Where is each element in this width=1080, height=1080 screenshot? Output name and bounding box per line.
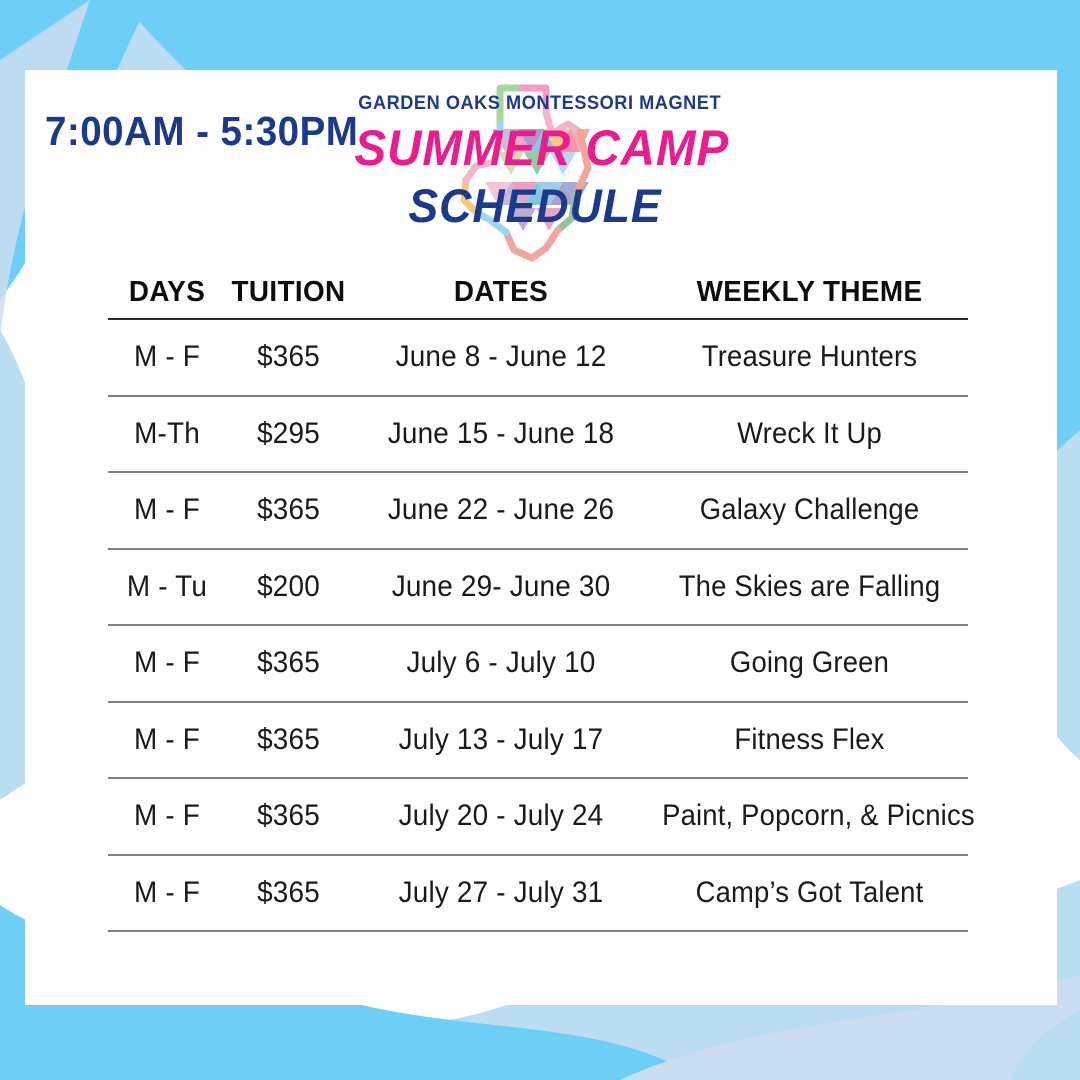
cell-theme: Treasure Hunters bbox=[662, 340, 957, 374]
cell-tuition: $365 bbox=[230, 799, 346, 833]
table-header-row: DAYS TUITION DATES WEEKLY THEME bbox=[108, 266, 968, 320]
column-header-days: DAYS bbox=[110, 276, 223, 309]
cell-tuition: $365 bbox=[230, 340, 346, 374]
cell-days: M - F bbox=[112, 876, 222, 910]
cell-days: M - F bbox=[112, 646, 222, 680]
cell-days: M-Th bbox=[112, 417, 222, 451]
schedule-card: 7:00AM - 5:30PM bbox=[25, 70, 1057, 1005]
logo-text-group: GARDEN OAKS MONTESSORI MAGNET SUMMER CAM… bbox=[345, 82, 725, 272]
poster-header: 7:00AM - 5:30PM bbox=[25, 70, 1057, 265]
cell-theme: Wreck It Up bbox=[662, 417, 957, 451]
summer-camp-title: SUMMER CAMP bbox=[355, 123, 716, 173]
column-header-theme: WEEKLY THEME bbox=[657, 276, 961, 309]
cell-dates: June 15 - June 18 bbox=[362, 417, 641, 451]
table-row: M - F $365 July 20 - July 24 Paint, Popc… bbox=[108, 779, 968, 856]
cell-theme: Fitness Flex bbox=[662, 723, 957, 757]
cell-tuition: $365 bbox=[230, 723, 346, 757]
camp-hours-text: 7:00AM - 5:30PM bbox=[45, 108, 358, 155]
column-header-tuition: TUITION bbox=[229, 276, 349, 309]
cell-dates: July 13 - July 17 bbox=[362, 723, 641, 757]
school-name-text: GARDEN OAKS MONTESSORI MAGNET bbox=[358, 92, 711, 115]
table-row: M - F $365 July 13 - July 17 Fitness Fle… bbox=[108, 703, 968, 780]
cell-days: M - F bbox=[112, 799, 222, 833]
table-row: M - F $365 June 8 - June 12 Treasure Hun… bbox=[108, 320, 968, 397]
cell-dates: June 22 - June 26 bbox=[362, 493, 641, 527]
cell-theme: Galaxy Challenge bbox=[662, 493, 957, 527]
poster-canvas: 7:00AM - 5:30PM bbox=[0, 0, 1080, 1080]
cell-days: M - F bbox=[112, 493, 222, 527]
cell-tuition: $200 bbox=[230, 570, 346, 604]
schedule-table: DAYS TUITION DATES WEEKLY THEME M - F $3… bbox=[108, 266, 968, 932]
cell-tuition: $365 bbox=[230, 493, 346, 527]
table-row: M - F $365 July 6 - July 10 Going Green bbox=[108, 626, 968, 703]
cell-days: M - Tu bbox=[112, 570, 222, 604]
cell-tuition: $295 bbox=[230, 417, 346, 451]
table-row: M - F $365 June 22 - June 26 Galaxy Chal… bbox=[108, 473, 968, 550]
cell-theme: Going Green bbox=[662, 646, 957, 680]
cell-days: M - F bbox=[112, 340, 222, 374]
cell-theme: Paint, Popcorn, & Picnics bbox=[662, 799, 957, 833]
cell-days: M - F bbox=[112, 723, 222, 757]
column-header-dates: DATES bbox=[357, 276, 645, 309]
schedule-title: SCHEDULE bbox=[355, 182, 716, 229]
cell-tuition: $365 bbox=[230, 646, 346, 680]
cell-dates: June 8 - June 12 bbox=[362, 340, 641, 374]
table-row: M - F $365 July 27 - July 31 Camp’s Got … bbox=[108, 856, 968, 933]
cell-dates: July 27 - July 31 bbox=[362, 876, 641, 910]
table-row: M - Tu $200 June 29- June 30 The Skies a… bbox=[108, 550, 968, 627]
cell-dates: July 20 - July 24 bbox=[362, 799, 641, 833]
cell-tuition: $365 bbox=[230, 876, 346, 910]
logo-block: GARDEN OAKS MONTESSORI MAGNET SUMMER CAM… bbox=[345, 82, 725, 272]
cell-theme: Camp’s Got Talent bbox=[662, 876, 957, 910]
table-row: M-Th $295 June 15 - June 18 Wreck It Up bbox=[108, 397, 968, 474]
cell-dates: June 29- June 30 bbox=[362, 570, 641, 604]
cell-dates: July 6 - July 10 bbox=[362, 646, 641, 680]
cell-theme: The Skies are Falling bbox=[662, 570, 957, 604]
